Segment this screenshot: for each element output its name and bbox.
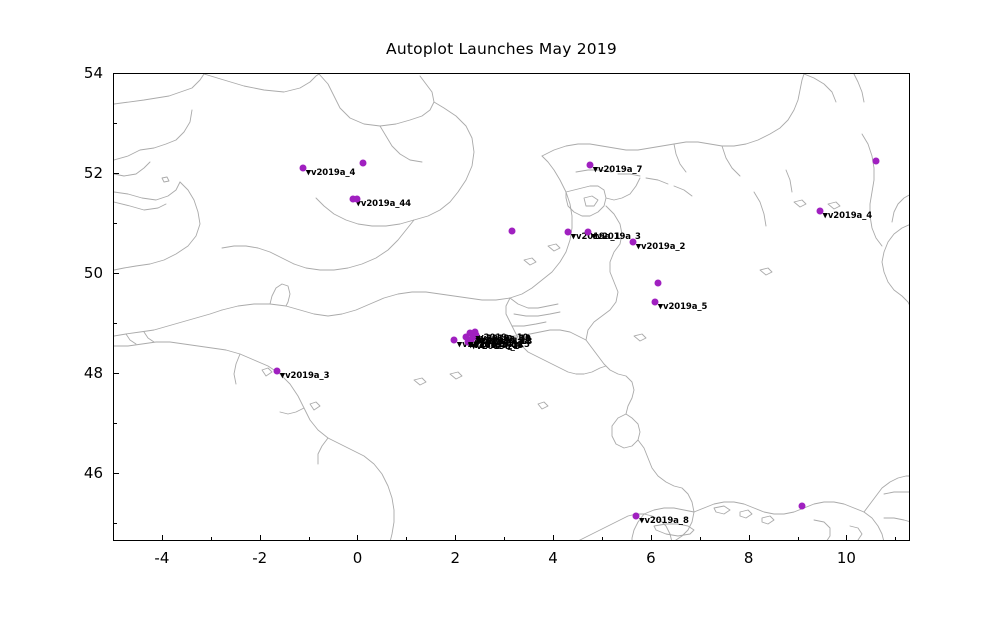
y-axis-tick bbox=[113, 323, 117, 324]
map-geography bbox=[114, 74, 910, 541]
y-axis-tick bbox=[113, 473, 119, 474]
x-axis-tick-label: 2 bbox=[450, 549, 460, 567]
x-axis-tick bbox=[455, 535, 456, 541]
scatter-point-label: ▼v2019a_7 bbox=[593, 165, 643, 175]
x-axis-tick-label: 0 bbox=[353, 549, 363, 567]
scatter-point-label: ▼v2019a_8 bbox=[639, 516, 689, 526]
x-axis-tick bbox=[357, 535, 358, 541]
scatter-marker[interactable] bbox=[872, 157, 879, 164]
y-axis-tick bbox=[113, 273, 119, 274]
x-axis-tick bbox=[602, 537, 603, 541]
page-title: Autoplot Launches May 2019 bbox=[0, 40, 1003, 58]
x-axis-tick bbox=[895, 537, 896, 541]
scatter-point-label: ▼v2019a_2 bbox=[636, 242, 686, 252]
scatter-point-label: ▼v2019a_44 bbox=[356, 199, 411, 209]
scatter-point-label: ▼v2019a_13 bbox=[468, 341, 523, 351]
y-axis-tick bbox=[113, 423, 117, 424]
x-axis-tick-label: 4 bbox=[548, 549, 558, 567]
x-axis-tick bbox=[651, 535, 652, 541]
x-axis-tick bbox=[162, 535, 163, 541]
scatter-marker[interactable] bbox=[799, 502, 806, 509]
y-axis-tick-label: 54 bbox=[84, 64, 103, 82]
figure: Autoplot Launches May 2019 bbox=[0, 0, 1003, 633]
x-axis-tick bbox=[553, 535, 554, 541]
scatter-point-label: ▼v2019a_4 bbox=[823, 211, 873, 221]
scatter-marker[interactable] bbox=[353, 196, 360, 203]
scatter-point-label: ▼v2019a_4 bbox=[306, 168, 356, 178]
scatter-point-label: ▼v2019a_5 bbox=[658, 302, 708, 312]
x-axis-tick bbox=[309, 537, 310, 541]
y-axis-tick-label: 52 bbox=[84, 164, 103, 182]
y-axis-tick bbox=[113, 173, 119, 174]
scatter-marker[interactable] bbox=[508, 227, 515, 234]
x-axis-tick-label: 10 bbox=[837, 549, 856, 567]
scatter-marker[interactable] bbox=[655, 280, 662, 287]
x-axis-tick bbox=[798, 537, 799, 541]
y-axis-tick bbox=[113, 73, 119, 74]
y-axis-tick-label: 50 bbox=[84, 264, 103, 282]
x-axis-tick bbox=[700, 537, 701, 541]
x-axis-tick bbox=[504, 537, 505, 541]
x-axis-tick-label: 8 bbox=[744, 549, 754, 567]
y-axis-tick bbox=[113, 223, 117, 224]
x-axis-tick bbox=[113, 537, 114, 541]
x-axis-tick-label: -4 bbox=[154, 549, 169, 567]
x-axis-tick-label: 6 bbox=[646, 549, 656, 567]
scatter-point-label: ▼v2019a_3 bbox=[280, 371, 330, 381]
x-axis-tick bbox=[406, 537, 407, 541]
x-axis-tick-label: -2 bbox=[252, 549, 267, 567]
scatter-marker[interactable] bbox=[360, 160, 367, 167]
x-axis-tick bbox=[749, 535, 750, 541]
y-axis-tick-label: 46 bbox=[84, 464, 103, 482]
y-axis-tick-label: 48 bbox=[84, 364, 103, 382]
x-axis-tick bbox=[211, 537, 212, 541]
y-axis-tick bbox=[113, 373, 119, 374]
map-axes[interactable] bbox=[113, 73, 910, 541]
x-axis-tick bbox=[846, 535, 847, 541]
y-axis-tick bbox=[113, 523, 117, 524]
y-axis-tick bbox=[113, 123, 117, 124]
x-axis-tick bbox=[260, 535, 261, 541]
